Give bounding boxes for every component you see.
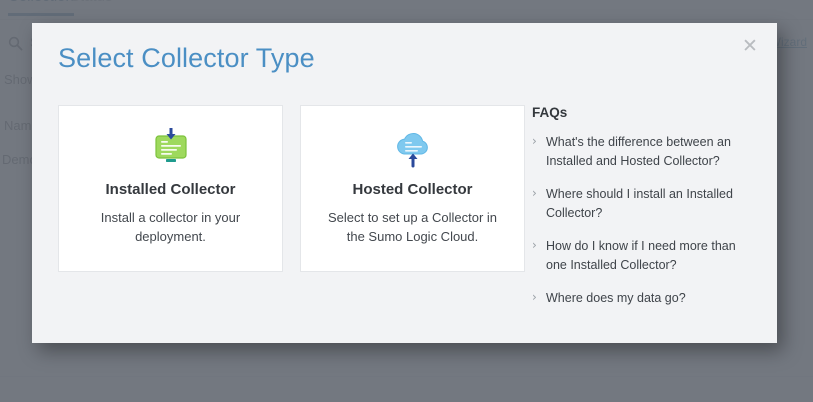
faq-item-1-label: Where should I install an Installed Coll… — [546, 187, 733, 220]
card-hosted-collector[interactable]: Hosted Collector Select to set up a Coll… — [300, 105, 525, 272]
chevron-right-icon: › — [532, 288, 537, 306]
card-installed-collector[interactable]: Installed Collector Install a collector … — [58, 105, 283, 272]
chevron-right-icon: › — [532, 236, 537, 254]
close-icon[interactable]: ✕ — [737, 33, 763, 59]
card-installed-collector-description: Install a collector in your deployment. — [81, 209, 261, 247]
faq-item-2[interactable]: › How do I know if I need more than one … — [532, 237, 757, 275]
faq-item-3-label: Where does my data go? — [546, 291, 686, 305]
app-screen: Collection Status Search Setup Wizard Sh… — [0, 0, 813, 402]
collector-type-card-list: Installed Collector Install a collector … — [58, 105, 525, 272]
chevron-right-icon: › — [532, 132, 537, 150]
hosted-collector-cloud-icon — [391, 128, 435, 168]
select-collector-type-dialog: Select Collector Type ✕ — [32, 23, 777, 343]
dialog-title: Select Collector Type — [58, 43, 315, 74]
faq-item-2-label: How do I know if I need more than one In… — [546, 239, 736, 272]
chevron-right-icon: › — [532, 184, 537, 202]
card-hosted-collector-description: Select to set up a Collector in the Sumo… — [323, 209, 503, 247]
installed-collector-monitor-icon — [149, 128, 193, 168]
card-installed-collector-title: Installed Collector — [105, 181, 235, 198]
faq-item-0[interactable]: › What's the difference between an Insta… — [532, 133, 757, 171]
faq-item-0-label: What's the difference between an Install… — [546, 135, 731, 168]
faq-heading: FAQs — [532, 105, 757, 120]
faq-item-3[interactable]: › Where does my data go? — [532, 289, 757, 308]
faq-panel: FAQs › What's the difference between an … — [532, 105, 757, 322]
faq-item-1[interactable]: › Where should I install an Installed Co… — [532, 185, 757, 223]
card-hosted-collector-title: Hosted Collector — [352, 181, 472, 198]
